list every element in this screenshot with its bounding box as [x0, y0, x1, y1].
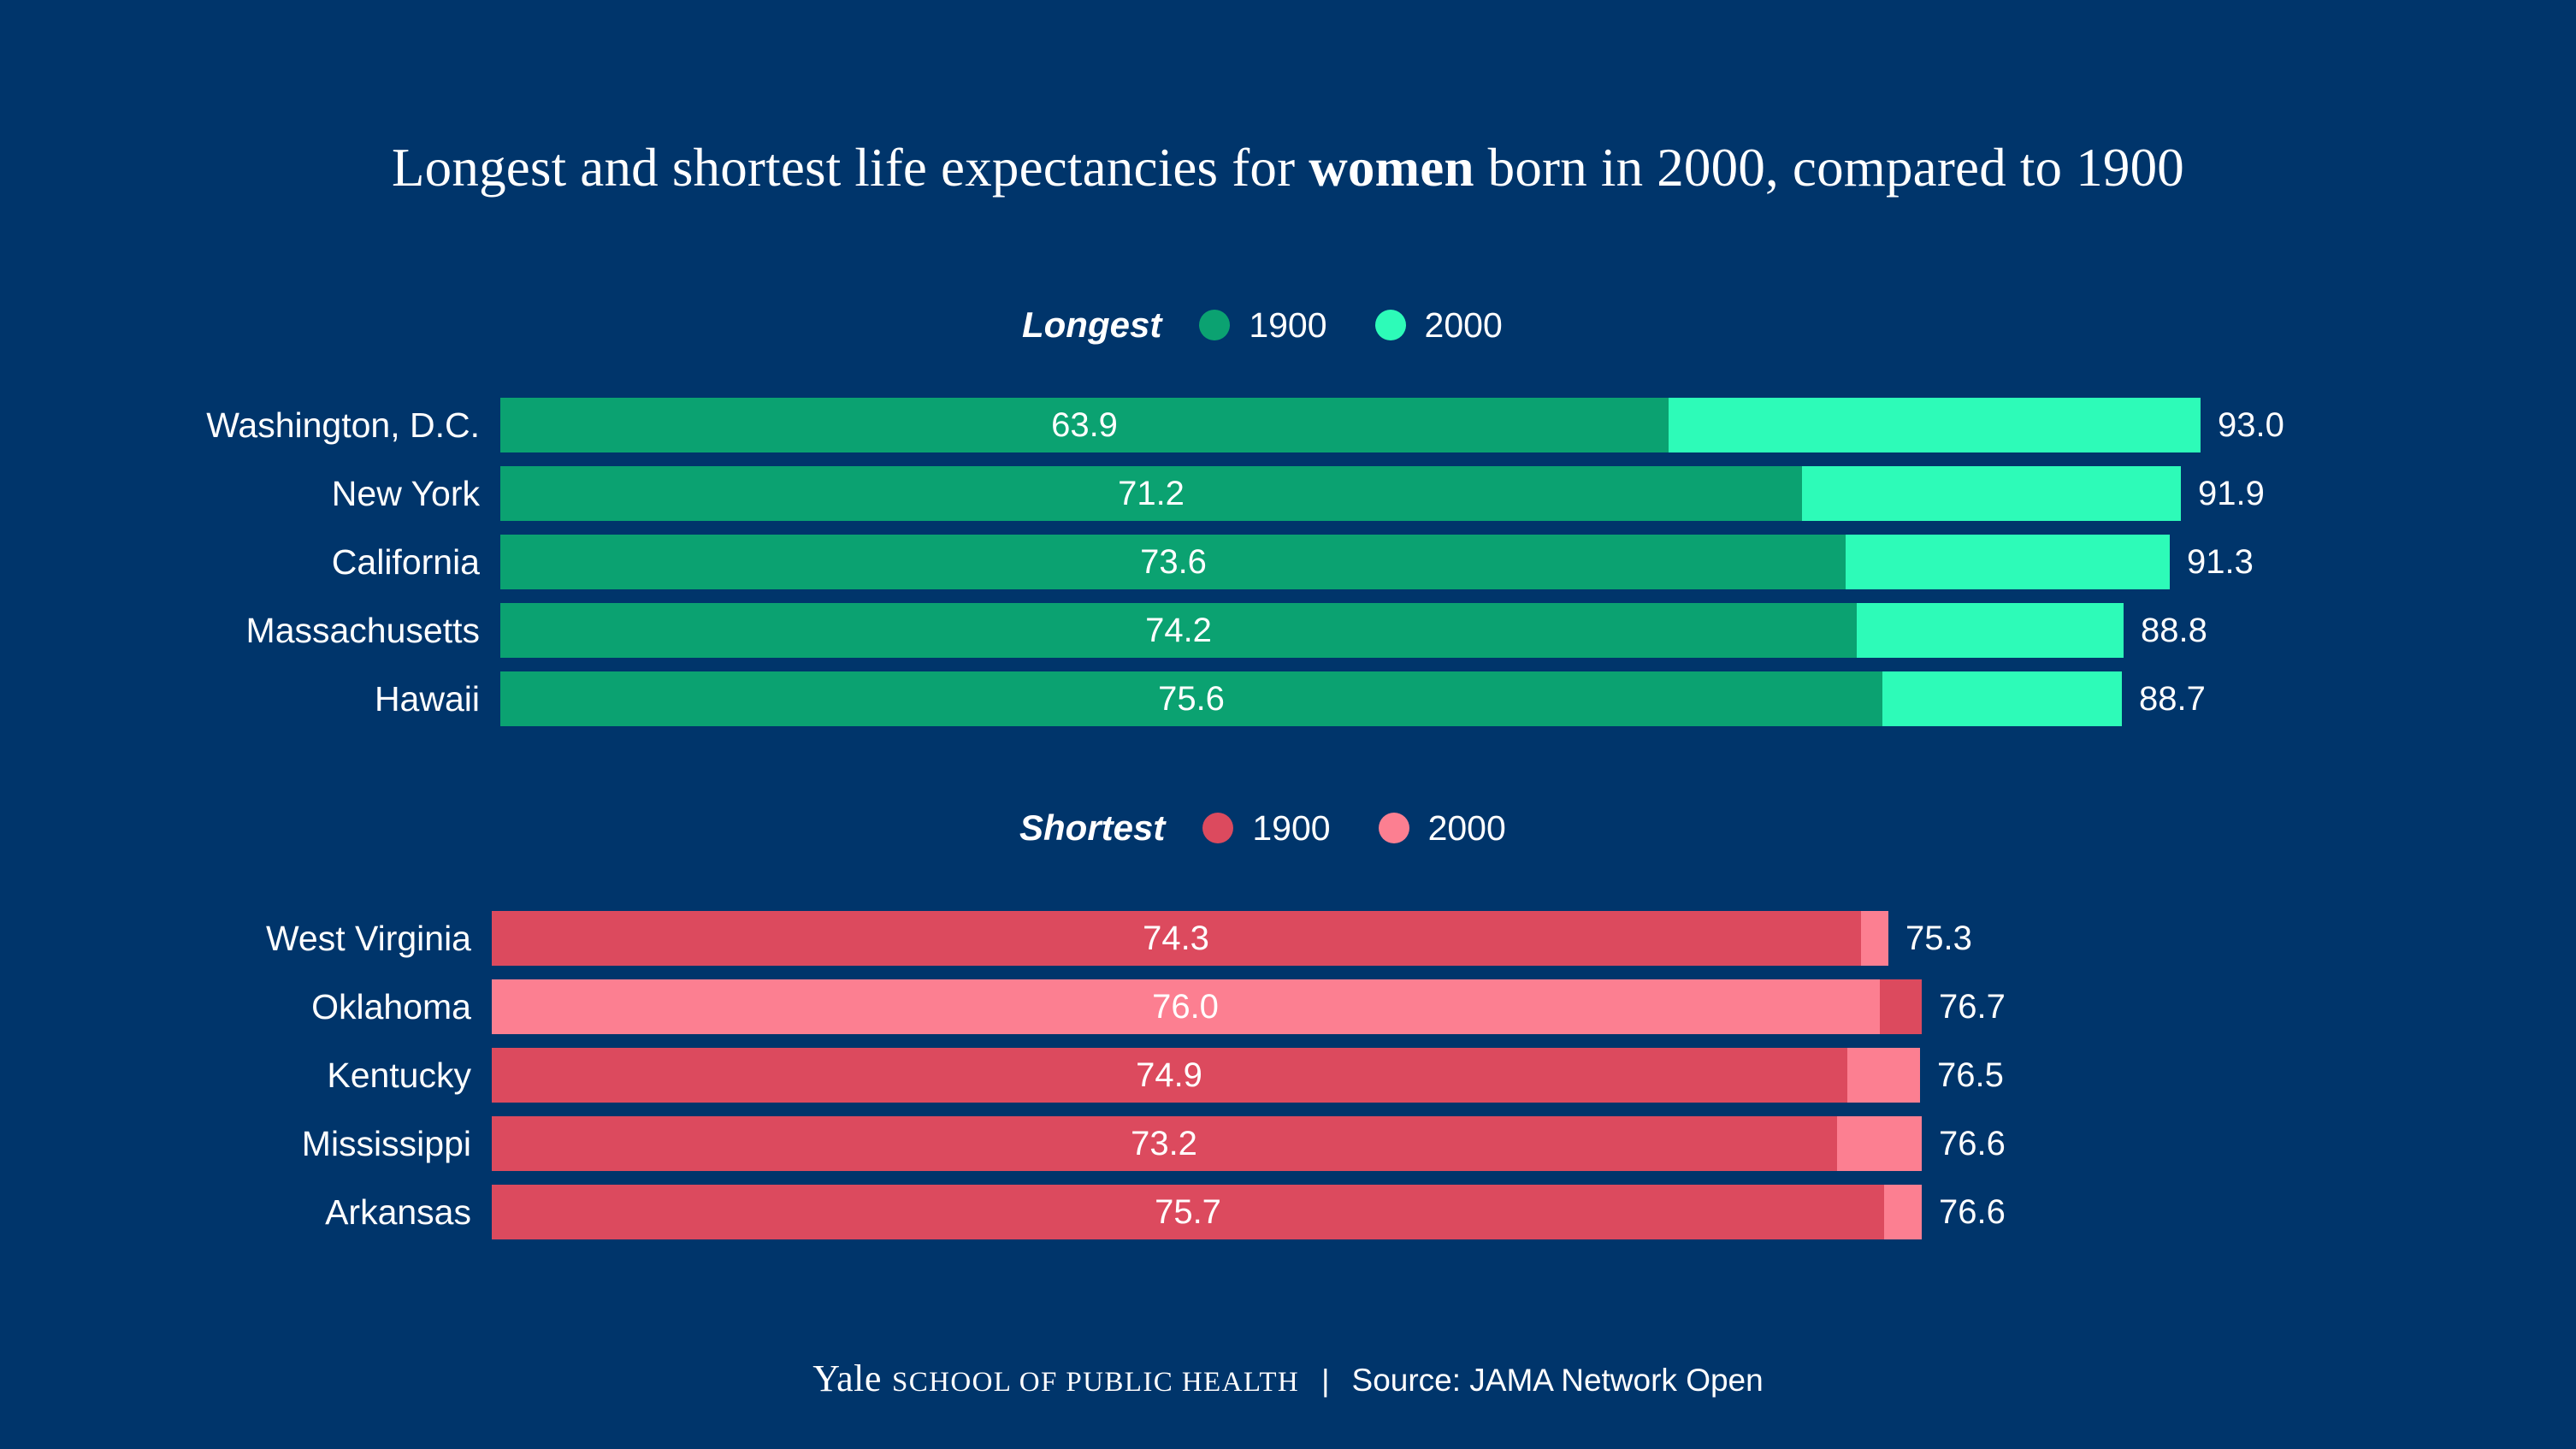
row-label: New York	[332, 466, 500, 521]
legend-label-longest-1900: 1900	[1249, 305, 1326, 346]
legend-swatch-2000-icon	[1379, 813, 1409, 843]
bar-track: 74.3	[492, 911, 1888, 966]
bar-value-2000: 76.6	[1922, 1116, 2006, 1171]
bar-group-longest: Washington, D.C. 63.9 93.0 New York 71.2…	[500, 398, 2211, 726]
bar-track: 71.2	[500, 466, 2181, 521]
bar-value-1900: 75.7	[1155, 1185, 1221, 1239]
bar-row[interactable]: Oklahoma 76.0 76.7	[492, 979, 2202, 1034]
legend-item-shortest-2000[interactable]: 2000	[1379, 808, 1506, 849]
bar-row[interactable]: Arkansas 75.7 76.6	[492, 1185, 2202, 1239]
legend-item-shortest-1900[interactable]: 1900	[1202, 808, 1330, 849]
bar-value-1900: 73.2	[1131, 1116, 1197, 1171]
bar-value-1900: 74.9	[1136, 1048, 1202, 1103]
bar-value-2000: 76.7	[1922, 979, 2006, 1034]
chart-canvas: Longest and shortest life expectancies f…	[0, 0, 2576, 1449]
row-label: Massachusetts	[246, 603, 500, 658]
bar-row[interactable]: Washington, D.C. 63.9 93.0	[500, 398, 2211, 452]
bar-track: 73.6	[500, 535, 2170, 589]
bar-row[interactable]: Kentucky 74.9 76.5	[492, 1048, 2202, 1103]
row-label: Washington, D.C.	[206, 398, 500, 452]
bar-value-2000: 88.8	[2124, 603, 2207, 658]
bar-value-2000: 76.5	[1920, 1048, 2004, 1103]
row-label: West Virginia	[266, 911, 492, 966]
bar-track: 74.9	[492, 1048, 1920, 1103]
legend-shortest: Shortest 1900 2000	[1019, 802, 1554, 854]
bar-row[interactable]: West Virginia 74.3 75.3	[492, 911, 2202, 966]
bar-group-shortest: West Virginia 74.3 75.3 Oklahoma 76.0 76…	[492, 911, 2202, 1239]
bar-value-1900: 74.2	[1145, 603, 1212, 658]
bar-value-1900: 71.2	[1118, 466, 1185, 521]
legend-longest: Longest 1900 2000	[1022, 299, 1551, 351]
title-before: Longest and shortest life expectancies f…	[392, 138, 1309, 198]
footer: Yale SCHOOL OF PUBLIC HEALTH | Source: J…	[0, 1357, 2576, 1400]
legend-item-longest-1900[interactable]: 1900	[1199, 305, 1326, 346]
yale-brand-primary: Yale	[812, 1357, 882, 1400]
bar-track: 75.7	[492, 1185, 1922, 1239]
row-label: Oklahoma	[311, 979, 492, 1034]
yale-brand-secondary: SCHOOL OF PUBLIC HEALTH	[892, 1367, 1299, 1399]
row-label: Arkansas	[325, 1185, 492, 1239]
bar-value-1900: 63.9	[1051, 398, 1118, 452]
page-title: Longest and shortest life expectancies f…	[0, 137, 2576, 199]
bar-value-1900: 75.6	[1158, 671, 1225, 726]
bar-value-2000: 75.3	[1888, 911, 1972, 966]
bar-row[interactable]: New York 71.2 91.9	[500, 466, 2211, 521]
bar-value-1900: 73.6	[1140, 535, 1207, 589]
legend-swatch-1900-icon	[1199, 310, 1230, 340]
footer-divider: |	[1321, 1363, 1329, 1399]
bar-value-2000: 91.3	[2170, 535, 2254, 589]
legend-swatch-1900-icon	[1202, 813, 1233, 843]
bar-value-2000: 76.6	[1922, 1185, 2006, 1239]
bar-row[interactable]: California 73.6 91.3	[500, 535, 2211, 589]
legend-label-shortest-2000: 2000	[1428, 808, 1506, 849]
bar-track: 75.6	[500, 671, 2122, 726]
bar-value-1900: 76.0	[1152, 979, 1219, 1034]
bar-value-2000: 91.9	[2181, 466, 2265, 521]
bar-row[interactable]: Mississippi 73.2 76.6	[492, 1116, 2202, 1171]
bar-row[interactable]: Massachusetts 74.2 88.8	[500, 603, 2211, 658]
title-after: born in 2000, compared to 1900	[1474, 138, 2184, 198]
legend-label-shortest-1900: 1900	[1252, 808, 1330, 849]
bar-track: 63.9	[500, 398, 2201, 452]
legend-shortest-title: Shortest	[1019, 807, 1165, 849]
legend-item-longest-2000[interactable]: 2000	[1375, 305, 1503, 346]
row-label: Kentucky	[327, 1048, 492, 1103]
bar-track: 73.2	[492, 1116, 1922, 1171]
row-label: California	[332, 535, 500, 589]
legend-longest-title: Longest	[1022, 305, 1161, 346]
bar-value-2000: 88.7	[2122, 671, 2206, 726]
bar-track: 74.2	[500, 603, 2124, 658]
footer-source: Source: JAMA Network Open	[1352, 1363, 1764, 1399]
bar-row[interactable]: Hawaii 75.6 88.7	[500, 671, 2211, 726]
bar-track: 76.0	[492, 979, 1922, 1034]
bar-value-1900: 74.3	[1143, 911, 1209, 966]
legend-swatch-2000-icon	[1375, 310, 1406, 340]
row-label: Hawaii	[375, 671, 500, 726]
row-label: Mississippi	[302, 1116, 492, 1171]
title-emphasis: women	[1309, 138, 1474, 198]
bar-value-2000: 93.0	[2201, 398, 2284, 452]
legend-label-longest-2000: 2000	[1425, 305, 1503, 346]
